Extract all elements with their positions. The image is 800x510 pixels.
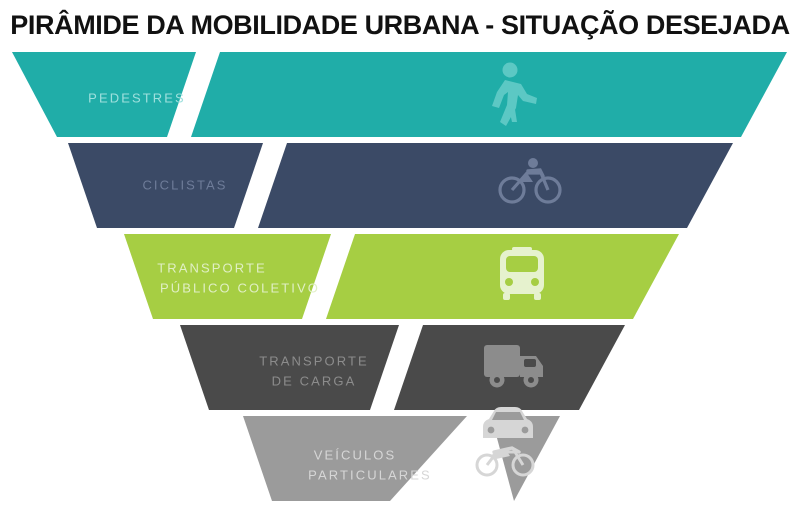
pyramid-chart: PEDESTRES CICLISTAS	[0, 0, 800, 510]
pyramid-level-transporte-publico[interactable]: TRANSPORTE PÚBLICO COLETIVO	[124, 234, 679, 319]
level-3-left-segment	[124, 234, 331, 319]
level-4-label-line1: TRANSPORTE	[259, 353, 369, 368]
level-1-right-segment	[191, 52, 787, 137]
level-5-label-line2: PARTICULARES	[308, 467, 432, 482]
level-5-label-line1: VEÍCULOS	[314, 447, 397, 462]
pyramid-level-veiculos-particulares[interactable]: VEÍCULOS PARTICULARES	[243, 407, 560, 501]
level-2-right-segment	[258, 143, 733, 228]
pyramid-infographic: PIRÂMIDE DA MOBILIDADE URBANA - SITUAÇÃO…	[0, 0, 800, 510]
bus-icon	[500, 247, 544, 300]
car-icon	[483, 407, 533, 438]
pyramid-level-ciclistas[interactable]: CICLISTAS	[68, 143, 733, 228]
pyramid-level-transporte-carga[interactable]: TRANSPORTE DE CARGA	[180, 325, 625, 410]
level-2-label: CICLISTAS	[142, 177, 227, 192]
pyramid-level-pedestres[interactable]: PEDESTRES	[12, 52, 787, 137]
level-1-label: PEDESTRES	[88, 90, 186, 105]
level-3-label-line2: PÚBLICO COLETIVO	[160, 280, 320, 295]
level-4-label-line2: DE CARGA	[272, 373, 357, 388]
level-3-label-line1: TRANSPORTE	[157, 260, 267, 275]
